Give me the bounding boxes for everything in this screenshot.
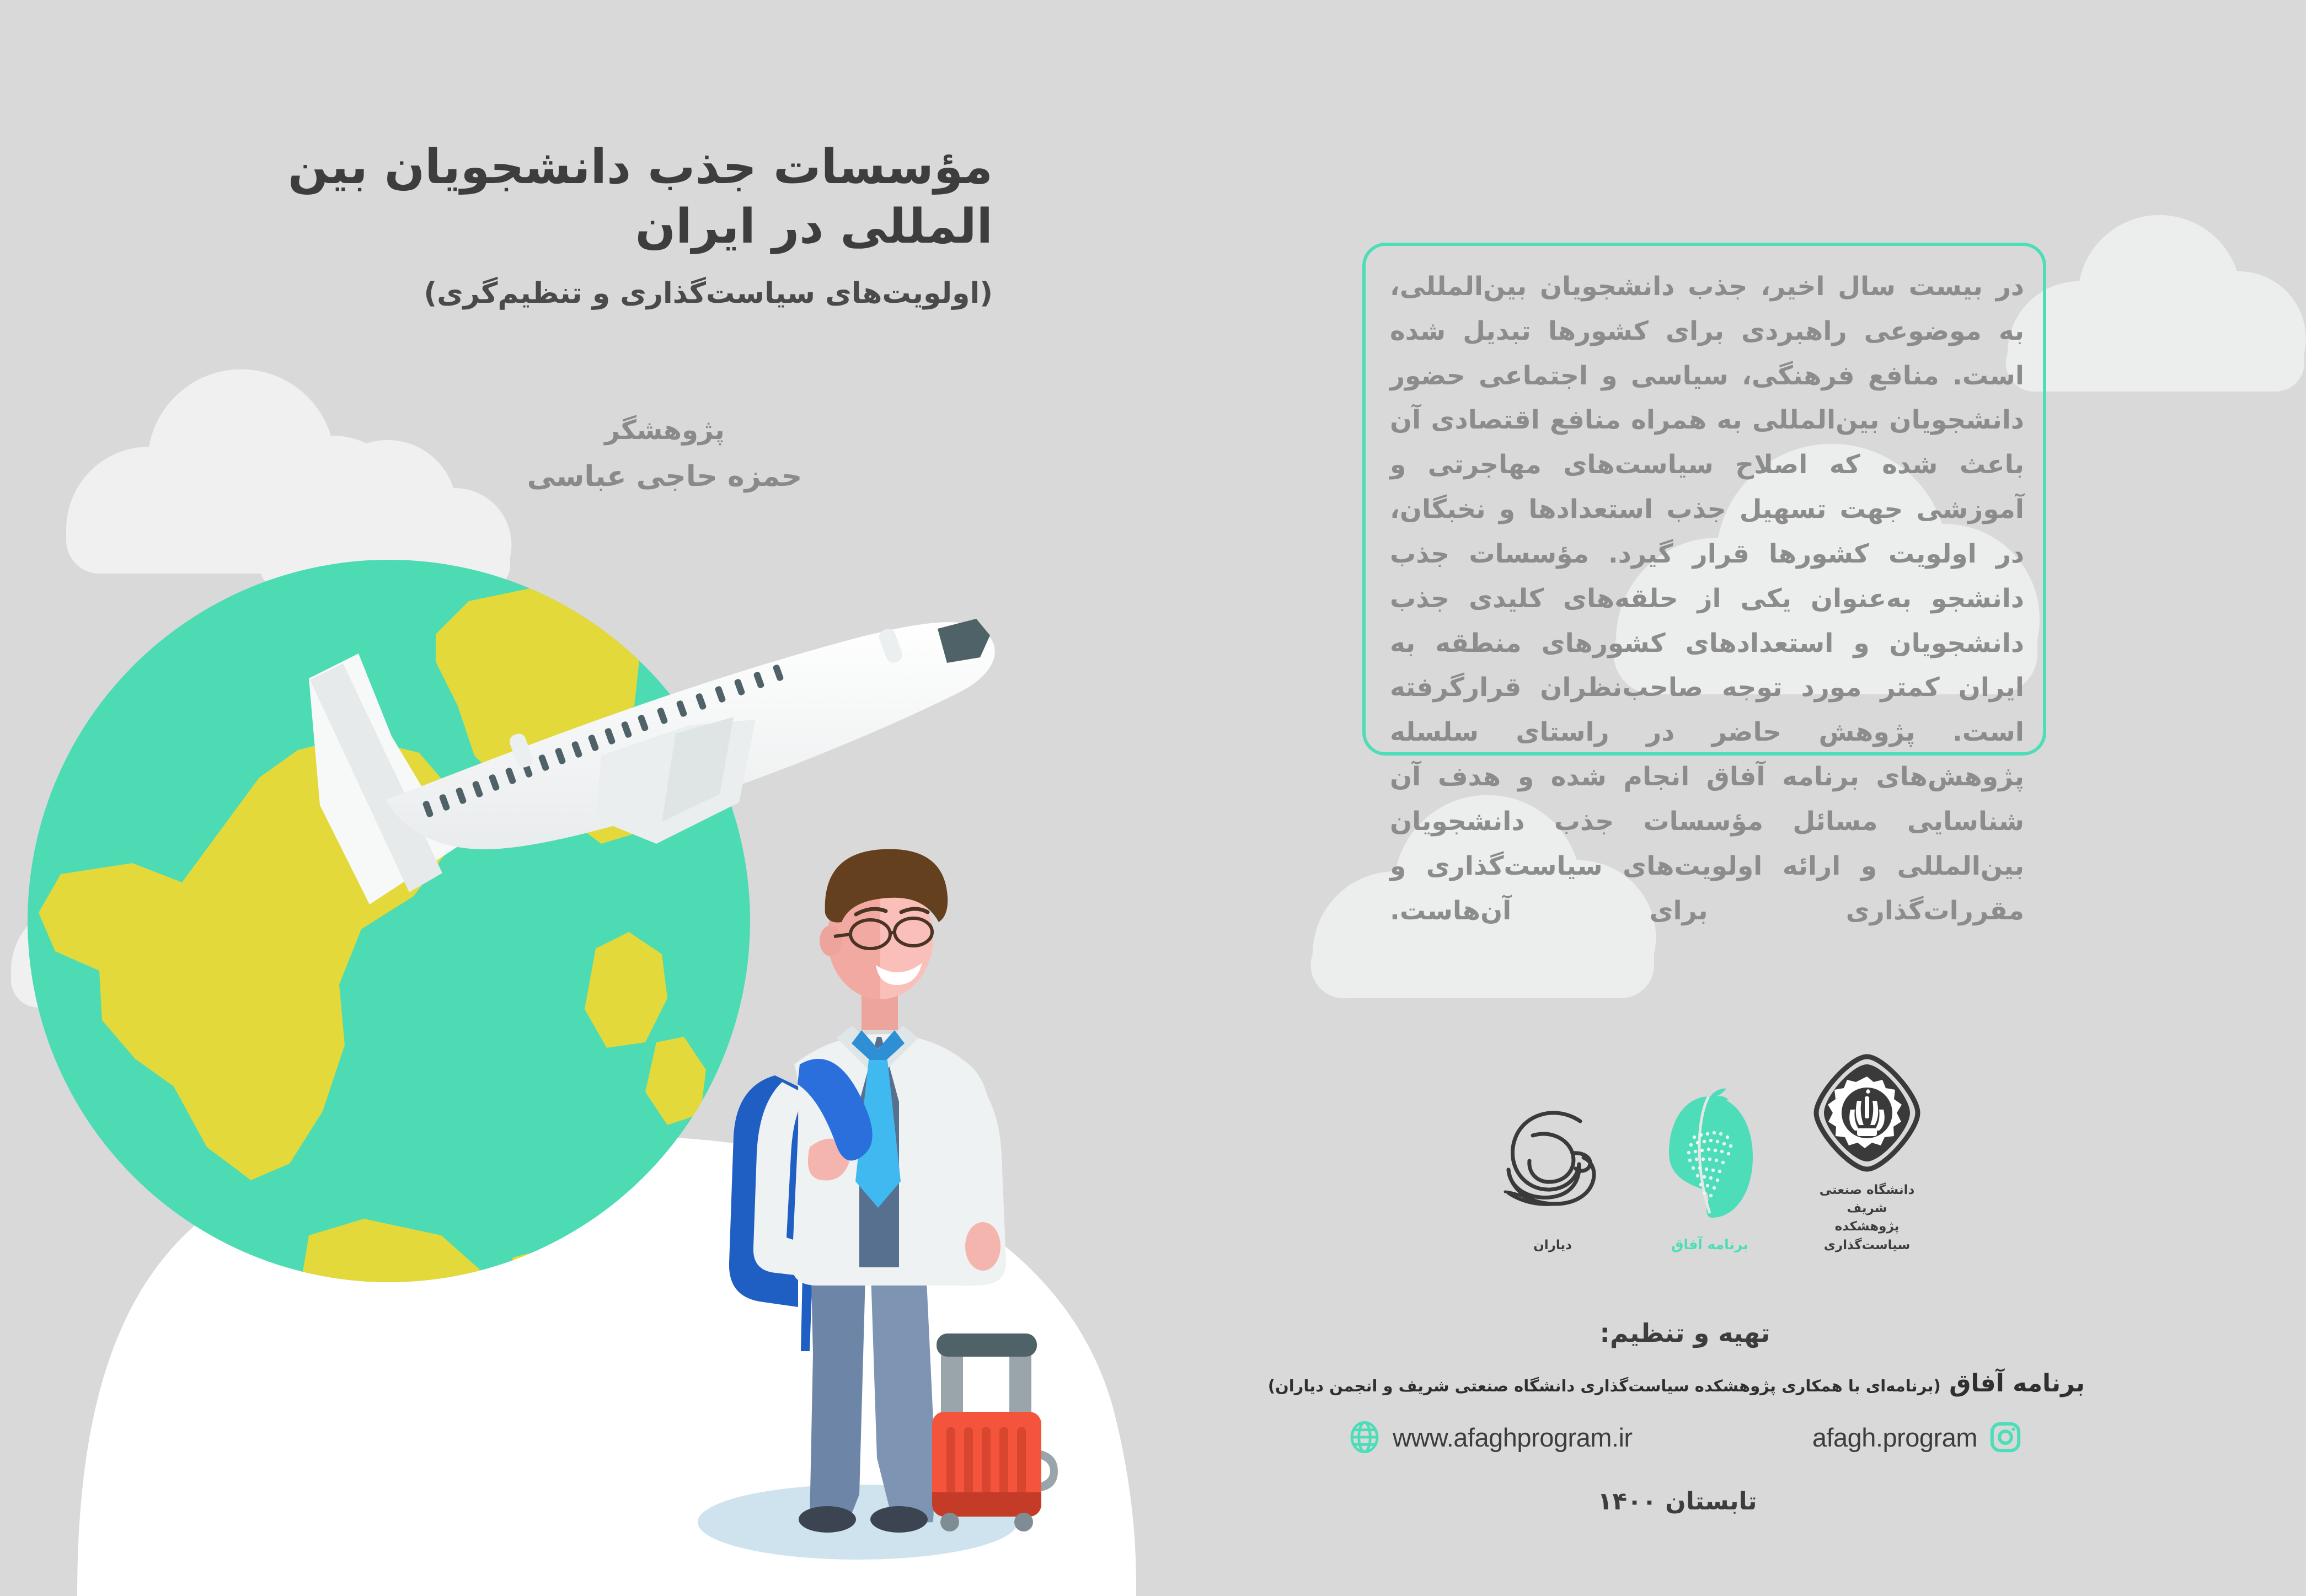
poster-canvas: مؤسسات جذب دانشجویان بین المللی در ایران… — [0, 0, 2306, 1596]
instagram-text: afagh.program — [1812, 1422, 1977, 1453]
title-block: مؤسسات جذب دانشجویان بین المللی در ایران… — [165, 138, 993, 493]
instagram-icon — [1989, 1421, 2021, 1453]
afagh-globe-head-icon — [1655, 1086, 1765, 1227]
researcher-name: حمزه حاجی عباسی — [165, 460, 993, 493]
website-link[interactable]: www.afaghprogram.ir — [1349, 1421, 1633, 1453]
logo-dayaran-line1: دیاران — [1533, 1236, 1572, 1255]
prepared-label: تهیه و تنظیم: — [1285, 1318, 2085, 1348]
logo-sharif-caption: دانشگاه صنعتی شریف پژوهشکده سیاست‌گذاری — [1798, 1181, 1936, 1255]
dayaran-bird-icon — [1497, 1099, 1608, 1229]
globe-icon — [1349, 1421, 1381, 1453]
season-label: تابستان ۱۴۰۰ — [1285, 1487, 2085, 1515]
program-name: برنامه آفاق — [1949, 1369, 2085, 1397]
logo-row: دانشگاه صنعتی شریف پژوهشکده سیاست‌گذاری — [1484, 1073, 1936, 1255]
logo-afagh: برنامه آفاق — [1641, 1086, 1779, 1255]
program-line: برنامه آفاق (برنامه‌ای با همکاری پژوهشکد… — [1285, 1368, 2085, 1399]
program-note: (برنامه‌ای با همکاری پژوهشکده سیاست‌گذار… — [1268, 1377, 1941, 1395]
contact-row: www.afaghprogram.ir afagh.program — [1285, 1421, 2085, 1453]
instagram-link[interactable]: afagh.program — [1812, 1421, 2021, 1453]
website-text: www.afaghprogram.ir — [1393, 1422, 1633, 1453]
footer: تهیه و تنظیم: برنامه آفاق (برنامه‌ای با … — [1285, 1318, 2085, 1515]
logo-dayaran: دیاران — [1484, 1099, 1622, 1255]
logo-sharif-line2: پژوهشکده سیاست‌گذاری — [1798, 1218, 1936, 1255]
logo-sharif: دانشگاه صنعتی شریف پژوهشکده سیاست‌گذاری — [1798, 1052, 1936, 1255]
sharif-emblem-icon — [1812, 1052, 1922, 1174]
page-title: مؤسسات جذب دانشجویان بین المللی در ایران — [165, 138, 993, 256]
researcher-label: پژوهشگر — [165, 415, 993, 446]
logo-sharif-line1: دانشگاه صنعتی شریف — [1798, 1181, 1936, 1218]
logo-dayaran-caption: دیاران — [1533, 1236, 1572, 1255]
page-subtitle: (اولویت‌های سیاست‌گذاری و تنظیم‌گری) — [165, 275, 993, 313]
abstract-text: در بیست سال اخیر، جذب دانشجویان بین‌المل… — [1390, 265, 2024, 933]
logo-afagh-caption: برنامه آفاق — [1671, 1235, 1748, 1255]
logo-afagh-line1: برنامه آفاق — [1671, 1235, 1748, 1255]
